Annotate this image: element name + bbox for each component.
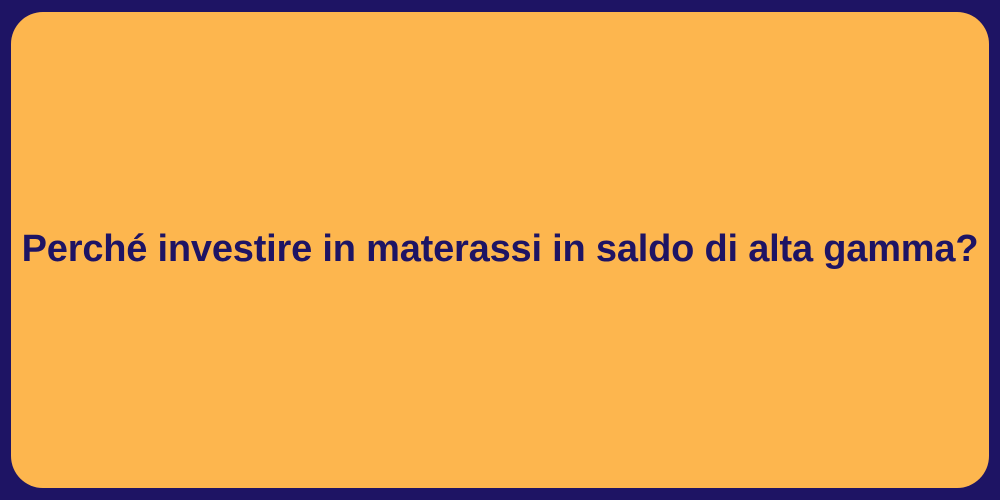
banner-frame: Perché investire in materassi in saldo d…	[0, 0, 1000, 500]
page-title: Perché investire in materassi in saldo d…	[0, 226, 1000, 274]
banner-card: Perché investire in materassi in saldo d…	[11, 12, 989, 488]
